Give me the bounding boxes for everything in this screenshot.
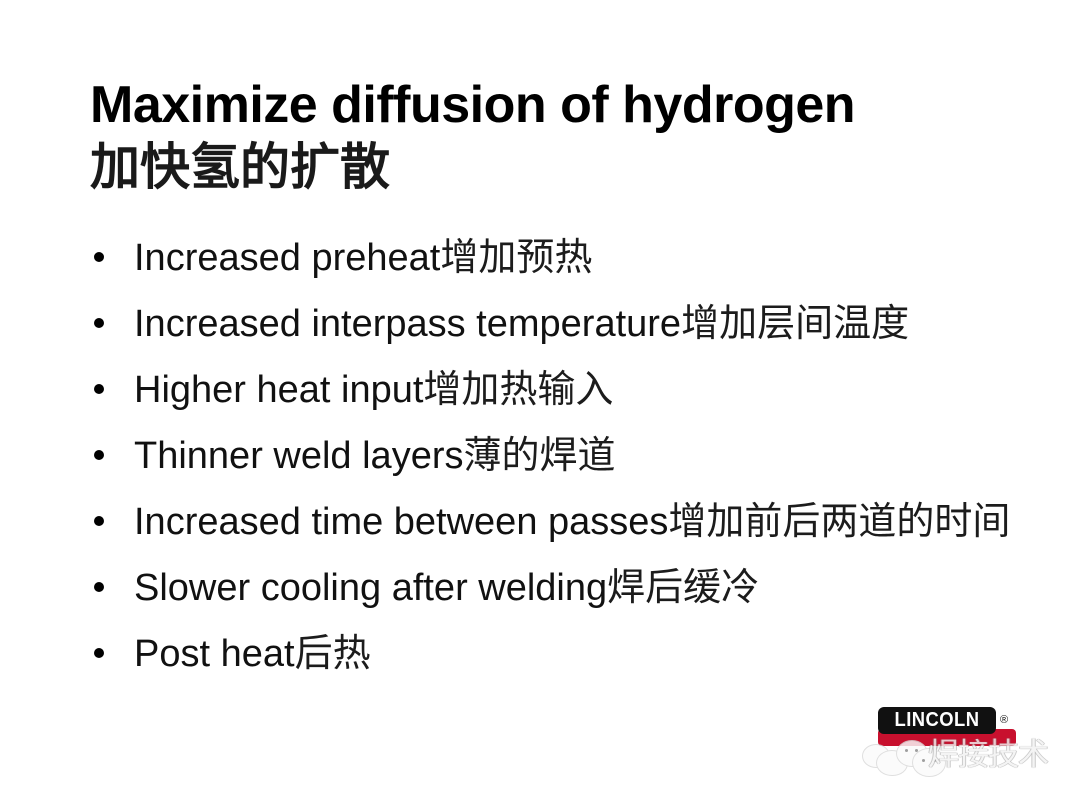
slide-title-block: Maximize diffusion of hydrogen 加快氢的扩散	[90, 76, 1030, 198]
bullet-list: Increased preheat增加预热 Increased interpas…	[90, 230, 1020, 692]
bullet-text-english: Post heat	[134, 633, 295, 675]
bullet-text-chinese: 增加前后两道的时间	[668, 499, 1010, 543]
wechat-watermark: 焊接技术	[862, 734, 1072, 786]
bullet-text: Post heat后热	[134, 626, 1020, 682]
list-item: Increased time between passes增加前后两道的时间	[90, 494, 1020, 550]
bullet-text-english: Higher heat input	[134, 369, 423, 411]
bullet-text: Increased time between passes增加前后两道的时间	[134, 494, 1020, 550]
title-english: Maximize diffusion of hydrogen	[90, 76, 1030, 134]
bullet-text: Increased interpass temperature增加层间温度	[134, 296, 1020, 352]
bullet-text-english: Increased preheat	[134, 237, 440, 279]
wechat-bubble-eye	[905, 749, 908, 752]
bullet-text-chinese: 后热	[295, 631, 371, 675]
bullet-text-chinese: 薄的焊道	[463, 433, 615, 477]
logo-black-box: LINCOLN	[878, 707, 996, 734]
list-item: Slower cooling after welding焊后缓冷	[90, 560, 1020, 616]
registered-trademark-icon: ®	[1000, 715, 1008, 726]
bullet-text-english: Slower cooling after welding	[134, 567, 607, 609]
bullet-dot-icon	[94, 384, 104, 394]
bullet-dot-icon	[94, 582, 104, 592]
logo-brand-text: LINCOLN	[883, 707, 992, 734]
bullet-dot-icon	[94, 252, 104, 262]
bullet-dot-icon	[94, 648, 104, 658]
bullet-text-chinese: 焊后缓冷	[607, 565, 759, 609]
list-item: Higher heat input增加热输入	[90, 362, 1020, 418]
bullet-text: Higher heat input增加热输入	[134, 362, 1020, 418]
slide-canvas: Maximize diffusion of hydrogen 加快氢的扩散 In…	[0, 0, 1080, 810]
wechat-bubble-eye	[922, 759, 925, 762]
bullet-text-english: Increased interpass temperature	[134, 303, 681, 345]
bullet-dot-icon	[94, 318, 104, 328]
bullet-dot-icon	[94, 450, 104, 460]
list-item: Increased interpass temperature增加层间温度	[90, 296, 1020, 352]
title-chinese: 加快氢的扩散	[90, 136, 1030, 198]
bullet-text-chinese: 增加层间温度	[681, 301, 909, 345]
bullet-text-english: Thinner weld layers	[134, 435, 463, 477]
bullet-text-english: Increased time between passes	[134, 501, 668, 543]
bullet-text-chinese: 增加预热	[440, 235, 592, 279]
list-item: Increased preheat增加预热	[90, 230, 1020, 286]
bullet-text: Slower cooling after welding焊后缓冷	[134, 560, 1020, 616]
bullet-dot-icon	[94, 516, 104, 526]
list-item: Thinner weld layers薄的焊道	[90, 428, 1020, 484]
list-item: Post heat后热	[90, 626, 1020, 682]
bullet-text: Increased preheat增加预热	[134, 230, 1020, 286]
watermark-text: 焊接技术	[928, 737, 1048, 773]
bullet-text-chinese: 增加热输入	[423, 367, 613, 411]
bullet-text: Thinner weld layers薄的焊道	[134, 428, 1020, 484]
